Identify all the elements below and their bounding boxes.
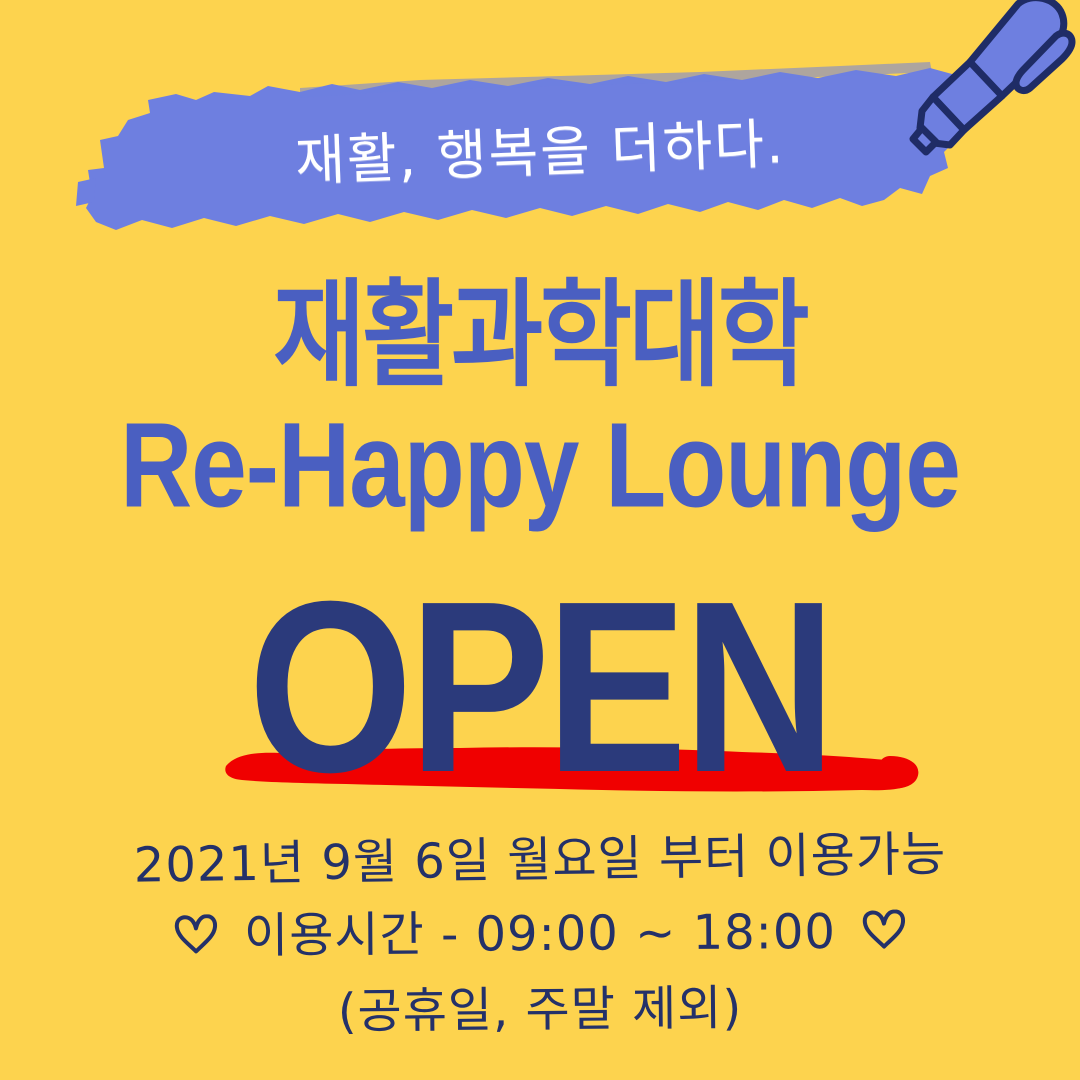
marker-icon-svg	[906, 0, 1080, 176]
info-line-closed-note: (공휴일, 주말 제외)	[0, 981, 1080, 1038]
open-word: OPEN	[0, 566, 1080, 810]
open-block: OPEN	[0, 566, 1080, 806]
headline-block: 재활과학대학 Re-Happy Lounge	[0, 286, 1080, 518]
english-title: Re-Happy Lounge	[22, 406, 1059, 527]
heart-icon-left-svg	[174, 914, 218, 954]
korean-title: 재활과학대학	[0, 277, 1080, 397]
highlighter-marker-icon	[906, 0, 1080, 176]
info-line-hours: 이용시간 - 09:00 ~ 18:00	[0, 906, 1080, 964]
info-line-date: 2021년 9월 6일 월요일 부터 이용가능	[0, 828, 1080, 891]
poster-canvas: 재활, 행복을 더하다. 재활과학대학 Re-Happy Lounge	[0, 0, 1080, 1080]
heart-icon-right-svg	[862, 909, 906, 949]
info-hours-text: 이용시간 - 09:00 ~ 18:00	[244, 904, 836, 964]
heart-icon-left	[174, 914, 218, 962]
heart-icon-right	[862, 909, 906, 957]
info-block: 2021년 9월 6일 월요일 부터 이용가능 이용시간 - 09:00 ~ 1…	[0, 836, 1080, 1034]
